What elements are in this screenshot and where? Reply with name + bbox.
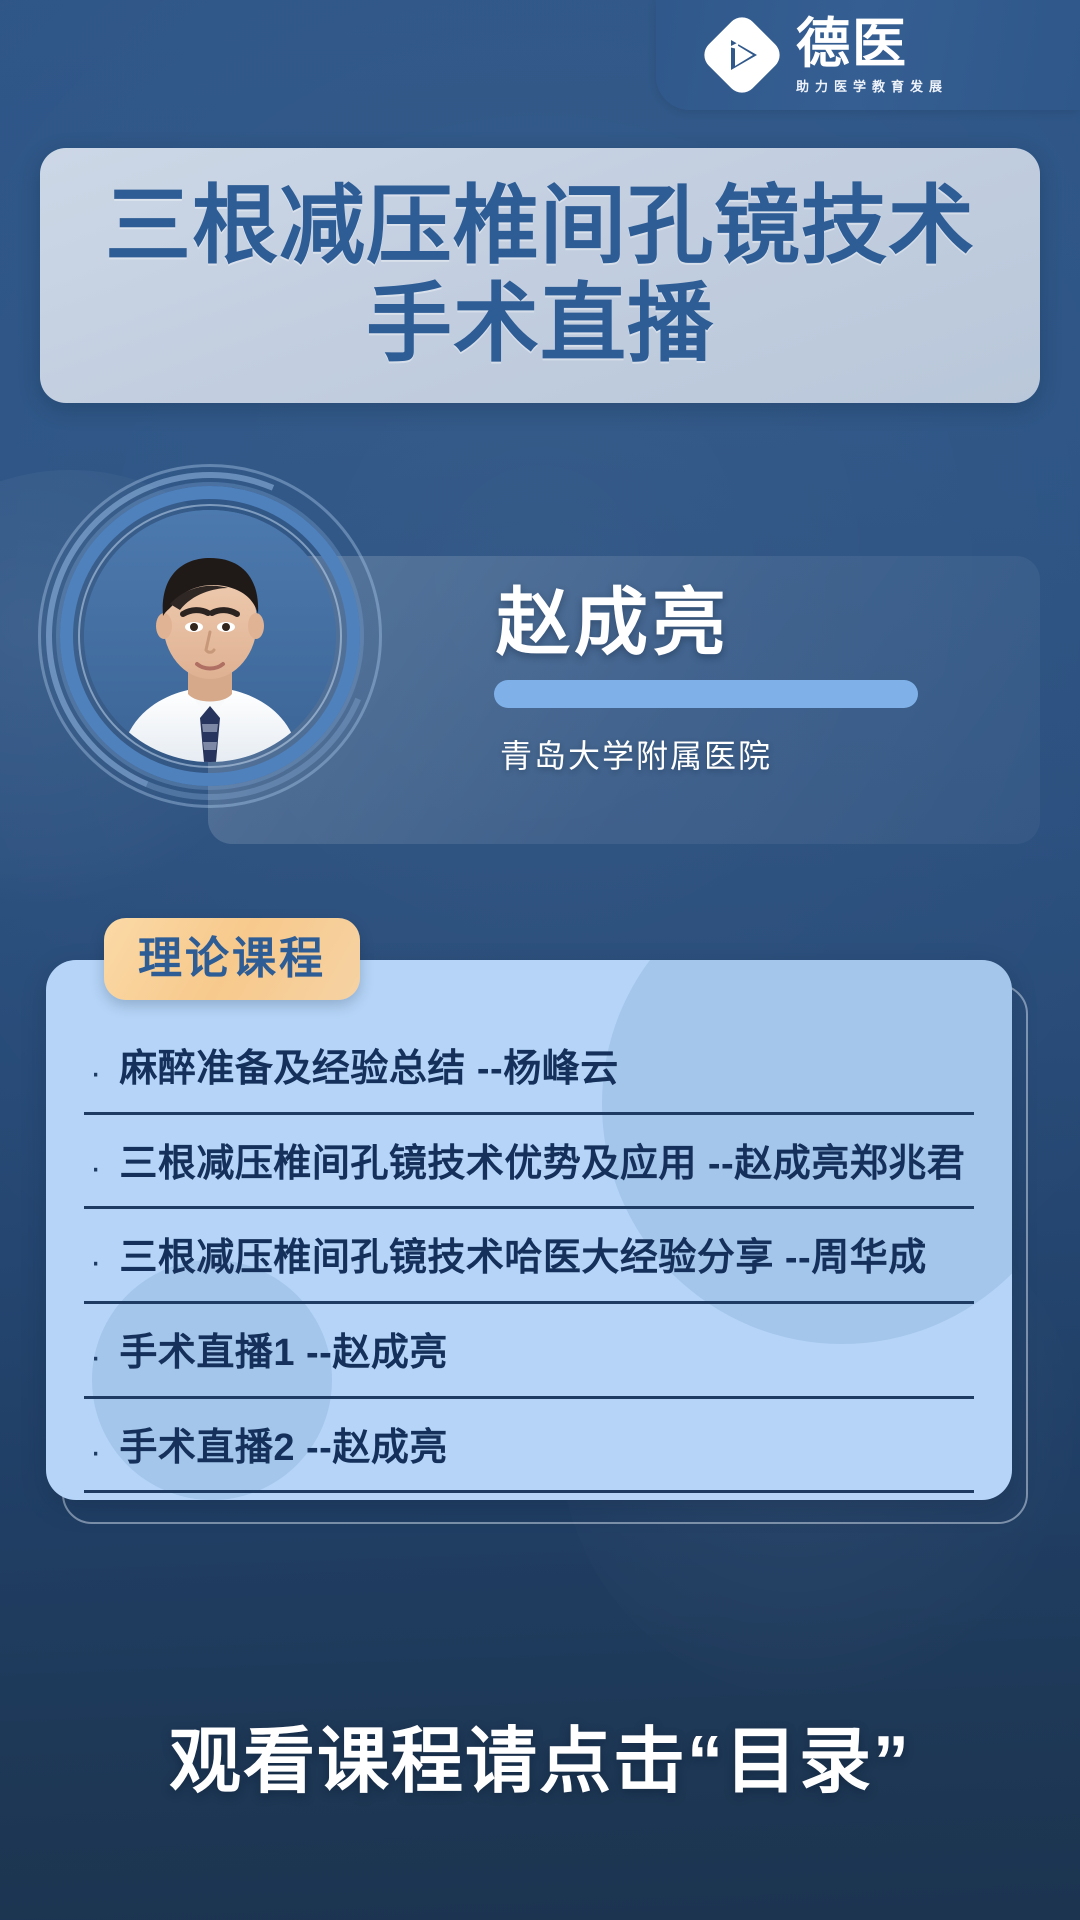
course-item-label: 手术直播2 --赵成亮 bbox=[119, 1427, 448, 1471]
list-item[interactable]: · 三根减压椎间孔镜技术哈医大经验分享 --周华成 bbox=[84, 1231, 974, 1304]
poster-root: 德医 助力医学教育发展 三根减压椎间孔镜技术 手术直播 bbox=[0, 0, 1080, 1920]
list-bullet-icon: · bbox=[90, 1056, 101, 1090]
course-item-label: 手术直播1 --赵成亮 bbox=[119, 1332, 448, 1376]
course-card: · 麻醉准备及经验总结 --杨峰云 · 三根减压椎间孔镜技术优势及应用 --赵成… bbox=[46, 960, 1012, 1500]
doctor-portrait bbox=[84, 510, 336, 762]
doctor-name: 赵成亮 bbox=[496, 586, 922, 660]
brand-header: 德医 助力医学教育发展 bbox=[656, 0, 1080, 110]
title-line-2: 手术直播 bbox=[366, 279, 714, 370]
list-bullet-icon: · bbox=[90, 1245, 101, 1279]
course-list: · 麻醉准备及经验总结 --杨峰云 · 三根减压椎间孔镜技术优势及应用 --赵成… bbox=[46, 1042, 1012, 1493]
list-item[interactable]: · 三根减压椎间孔镜技术优势及应用 --赵成亮郑兆君 bbox=[84, 1137, 974, 1210]
list-item[interactable]: · 手术直播1 --赵成亮 bbox=[84, 1326, 974, 1399]
list-bullet-icon: · bbox=[90, 1340, 101, 1374]
brand-name: 德医 bbox=[796, 17, 948, 71]
list-bullet-icon: · bbox=[90, 1151, 101, 1185]
brand-tagline: 助力医学教育发展 bbox=[796, 80, 948, 93]
play-diamond-icon bbox=[704, 17, 780, 93]
title-card: 三根减压椎间孔镜技术 手术直播 bbox=[40, 148, 1040, 403]
doctor-text-block: 赵成亮 bbox=[492, 586, 922, 660]
doctor-organization: 青岛大学附属医院 bbox=[500, 740, 772, 772]
title-line-1: 三根减压椎间孔镜技术 bbox=[105, 181, 975, 272]
footer-cta-text: 观看课程请点击“目录” bbox=[0, 1726, 1080, 1798]
doctor-name-underline bbox=[494, 680, 918, 708]
list-bullet-icon: · bbox=[90, 1435, 101, 1469]
list-item[interactable]: · 手术直播2 --赵成亮 bbox=[84, 1421, 974, 1494]
course-item-label: 三根减压椎间孔镜技术优势及应用 --赵成亮郑兆君 bbox=[119, 1143, 965, 1187]
list-item[interactable]: · 麻醉准备及经验总结 --杨峰云 bbox=[84, 1042, 974, 1115]
doctor-portrait-frame bbox=[38, 464, 382, 808]
course-item-label: 麻醉准备及经验总结 --杨峰云 bbox=[119, 1048, 618, 1092]
course-item-label: 三根减压椎间孔镜技术哈医大经验分享 --周华成 bbox=[119, 1237, 926, 1281]
theory-course-badge-label: 理论课程 bbox=[138, 937, 326, 981]
theory-course-badge: 理论课程 bbox=[104, 918, 360, 1000]
